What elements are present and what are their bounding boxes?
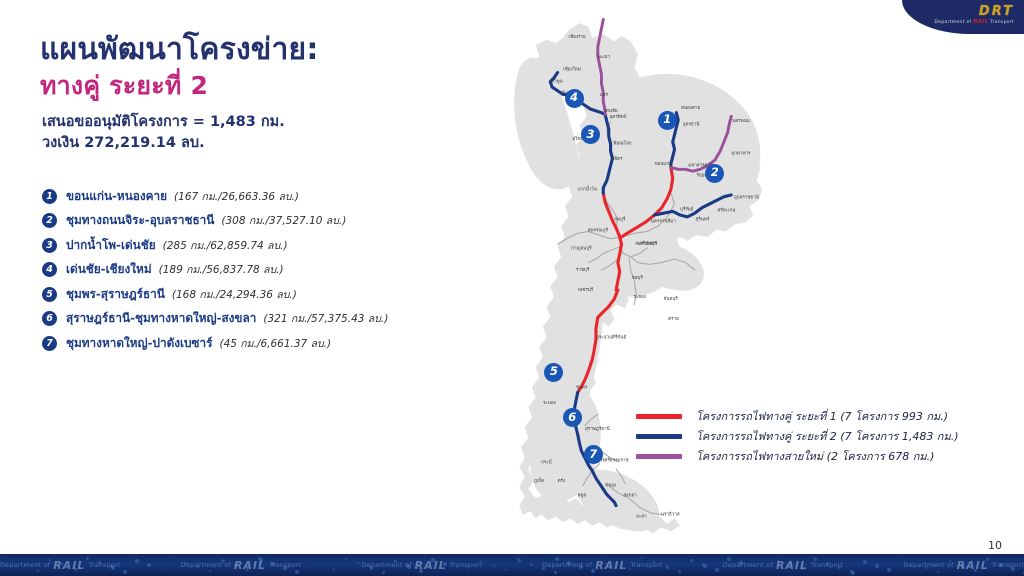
footer-watermark-big: RAIL xyxy=(776,559,808,572)
footer-watermark-pre: Department of xyxy=(723,561,773,569)
footer-watermark-pre: Department of xyxy=(542,561,592,569)
drt-logo: DRT Department of RAIL Transport xyxy=(902,0,1024,34)
footer-watermark: Department ofRAILTransport xyxy=(542,559,663,572)
footer-watermark-post: Transport xyxy=(269,561,301,569)
map-city-label: ยะลา xyxy=(636,515,647,520)
project-row[interactable]: 7ชุมทางหาดใหญ่-ปาดังเบซาร์(45 กม./6,661.… xyxy=(42,331,462,356)
project-value: (321 กม./57,375.43 ลบ.) xyxy=(263,310,388,327)
slide-root: DRT Department of RAIL Transport แผนพัฒน… xyxy=(0,0,1024,576)
footer-watermark-post: Transport xyxy=(992,561,1024,569)
project-row[interactable]: 5ชุมพร-สุราษฎร์ธานี(168 กม./24,294.36 ลบ… xyxy=(42,282,462,307)
project-row[interactable]: 6สุราษฎร์ธานี-ชุมทางหาดใหญ่-สงขลา(321 กม… xyxy=(42,307,462,332)
footer-watermark: Department ofRAILTransport xyxy=(723,559,844,572)
summary-block: เสนอขออนุมัติโครงการ = 1,483 กม. วงเงิน … xyxy=(42,112,285,154)
map-city-label: สงขลา xyxy=(623,492,637,498)
footer-watermark-post: Transport xyxy=(450,561,482,569)
map-city-label: ชุมพร xyxy=(576,385,588,391)
project-row[interactable]: 3ปากน้ำโพ-เด่นชัย(285 กม./62,859.74 ลบ.) xyxy=(42,233,462,258)
footer-watermark-post: Transport xyxy=(88,561,120,569)
project-number-badge: 4 xyxy=(42,262,57,277)
legend-label: โครงการรถไฟทางสายใหม่ (2 โครงการ 678 กม.… xyxy=(696,447,934,465)
footer-watermark-post: Transport xyxy=(630,561,662,569)
map-route-badge[interactable]: 4 xyxy=(565,89,584,108)
map-city-label: นครพนม xyxy=(732,118,750,124)
map-city-label: แพร่ xyxy=(600,92,609,98)
map-legend: โครงการรถไฟทางคู่ ระยะที่ 1 (7 โครงการ 9… xyxy=(636,406,959,466)
project-name: เด่นชัย-เชียงใหม่ xyxy=(66,260,152,279)
footer-watermark-pre: Department of xyxy=(361,561,411,569)
footer-watermark-big: RAIL xyxy=(415,559,447,572)
drt-logo-text: DRT xyxy=(979,4,1014,19)
project-name: ชุมทางถนนจิระ-อุบลราชธานี xyxy=(66,211,214,230)
project-row[interactable]: 2ชุมทางถนนจิระ-อุบลราชธานี(308 กม./37,52… xyxy=(42,209,462,234)
footer-watermark: Department ofRAILTransport xyxy=(0,559,121,572)
project-number-badge: 6 xyxy=(42,311,57,326)
footer-watermark-big: RAIL xyxy=(53,559,85,572)
footer-watermark-pre: Department of xyxy=(181,561,231,569)
footer-watermark-pre: Department of xyxy=(903,561,953,569)
logo-sub-pre: Department of xyxy=(935,20,972,25)
project-row[interactable]: 1ขอนแก่น-หนองคาย(167 กม./26,663.36 ลบ.) xyxy=(42,184,462,209)
drt-logo-subtitle: Department of RAIL Transport xyxy=(935,19,1014,25)
legend-color-swatch xyxy=(636,454,682,459)
project-name: สุราษฎร์ธานี-ชุมทางหาดใหญ่-สงขลา xyxy=(66,309,256,328)
map-city-label: นราธิวาส xyxy=(661,512,680,518)
footer-watermark-strip: Department ofRAILTransportDepartment ofR… xyxy=(0,554,1024,576)
map-route-badge[interactable]: 2 xyxy=(705,164,724,183)
map-city-label: มุกดาหาร xyxy=(731,151,751,157)
footer-watermark-big: RAIL xyxy=(234,559,266,572)
legend-color-swatch xyxy=(636,414,682,419)
logo-sub-post: Transport xyxy=(990,20,1014,25)
legend-row: โครงการรถไฟทางคู่ ระยะที่ 2 (7 โครงการ 1… xyxy=(636,426,959,446)
footer-watermark-big: RAIL xyxy=(957,559,989,572)
legend-label: โครงการรถไฟทางคู่ ระยะที่ 2 (7 โครงการ 1… xyxy=(696,427,959,445)
project-number-badge: 1 xyxy=(42,189,57,204)
project-value: (285 กม./62,859.74 ลบ.) xyxy=(163,237,288,254)
footer-watermark: Department ofRAILTransport xyxy=(361,559,482,572)
legend-row: โครงการรถไฟทางคู่ ระยะที่ 1 (7 โครงการ 9… xyxy=(636,406,959,426)
project-number-badge: 7 xyxy=(42,336,57,351)
project-list: 1ขอนแก่น-หนองคาย(167 กม./26,663.36 ลบ.)2… xyxy=(42,184,462,356)
project-name: ขอนแก่น-หนองคาย xyxy=(66,187,167,206)
project-value: (167 กม./26,663.36 ลบ.) xyxy=(174,188,299,205)
summary-line-budget: วงเงิน 272,219.14 ลบ. xyxy=(42,133,285,154)
map-city-label: ลำพูน xyxy=(551,79,562,85)
project-value: (308 กม./37,527.10 ลบ.) xyxy=(221,212,346,229)
map-route-badge[interactable]: 1 xyxy=(658,111,677,130)
map-route-badge[interactable]: 3 xyxy=(581,125,600,144)
project-value: (189 กม./56,837.78 ลบ.) xyxy=(159,261,284,278)
map-city-label: ตราด xyxy=(668,316,679,322)
footer-watermark-big: RAIL xyxy=(595,559,627,572)
map-city-label: พะเยา xyxy=(598,54,611,60)
project-name: ชุมพร-สุราษฎร์ธานี xyxy=(66,285,165,304)
footer-watermark-pre: Department of xyxy=(0,561,50,569)
legend-label: โครงการรถไฟทางคู่ ระยะที่ 1 (7 โครงการ 9… xyxy=(696,407,948,425)
footer-watermark: Department ofRAILTransport xyxy=(181,559,302,572)
page-number: 10 xyxy=(988,539,1002,552)
map-city-label: ขอนแก่น xyxy=(654,161,672,167)
map-route-badge[interactable]: 5 xyxy=(544,363,563,382)
map-route-badge[interactable]: 7 xyxy=(584,445,603,464)
legend-row: โครงการรถไฟทางสายใหม่ (2 โครงการ 678 กม.… xyxy=(636,446,959,466)
project-number-badge: 5 xyxy=(42,287,57,302)
map-city-label: หนองคาย xyxy=(681,106,701,111)
map-route-badge[interactable]: 6 xyxy=(563,408,582,427)
map-city-label: พิจิตร xyxy=(611,156,623,162)
footer-watermark-post: Transport xyxy=(811,561,843,569)
map-city-label: สตูล xyxy=(578,492,587,498)
page-title-line2: ทางคู่ ระยะที่ 2 xyxy=(40,66,208,106)
project-row[interactable]: 4เด่นชัย-เชียงใหม่(189 กม./56,837.78 ลบ.… xyxy=(42,258,462,283)
summary-line-distance: เสนอขออนุมัติโครงการ = 1,483 กม. xyxy=(42,112,285,133)
project-value: (168 กม./24,294.36 ลบ.) xyxy=(172,286,297,303)
footer-watermark: Department ofRAILTransport xyxy=(903,559,1024,572)
map-city-label: ระยอง xyxy=(633,294,646,300)
project-number-badge: 3 xyxy=(42,238,57,253)
project-name: ปากน้ำโพ-เด่นชัย xyxy=(66,236,156,255)
map-city-label: ระนอง xyxy=(543,400,556,406)
logo-sub-big: RAIL xyxy=(973,19,988,25)
project-number-badge: 2 xyxy=(42,213,57,228)
footer-band: Department ofRAILTransportDepartment ofR… xyxy=(0,554,1024,576)
legend-color-swatch xyxy=(636,434,682,439)
project-name: ชุมทางหาดใหญ่-ปาดังเบซาร์ xyxy=(66,334,213,353)
map-city-label: จันทบุรี xyxy=(664,295,679,302)
project-value: (45 กม./6,661.37 ลบ.) xyxy=(220,335,332,352)
